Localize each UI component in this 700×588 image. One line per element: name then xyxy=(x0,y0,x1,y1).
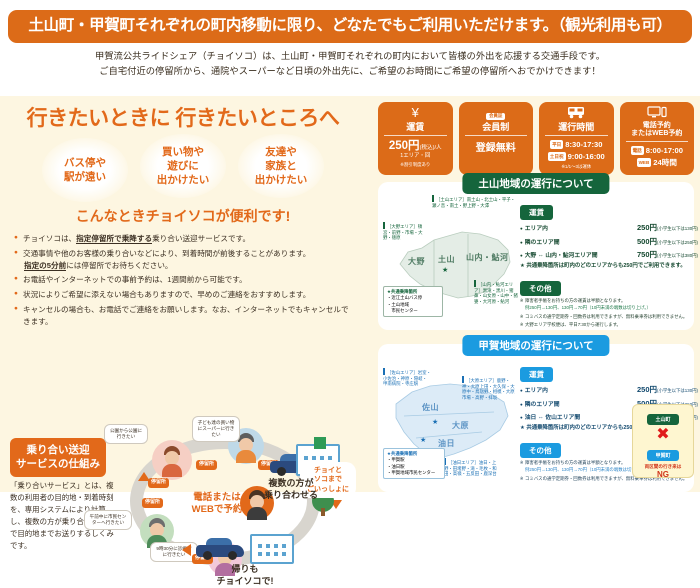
fare-label: ●大野 ⇔ 山内・鮎河エリア間 xyxy=(520,250,598,259)
legend-koka: ★共通乗降箇所 ・甲賀駅 ・油日駅 ・甲賀地域市民センター xyxy=(383,448,445,480)
map-label-top-text: ［土山エリア］南土山・北土山・平子・瀬ノ音・南土・野上野・大澤 xyxy=(432,197,515,208)
other-note-main: 障害者手帳をお持ちの方の運賃は半額となります。 xyxy=(525,460,625,465)
map-town-tsuchiyama: 土山 xyxy=(438,254,455,265)
passenger-node-1 xyxy=(152,440,192,480)
map-label-abura-hi-area: ［油日エリア］油日・上野・田堵野・滝・毛枚・和田・高嶺・五反田・鹿深台 xyxy=(444,458,502,477)
return-line-2: チョイソコで! xyxy=(210,576,280,588)
reserve-line-2: WEBで予約 xyxy=(186,504,248,516)
ng-label: NG xyxy=(633,470,693,480)
other-note-main: コミバスの通学定期券・回数券は利用できますが、無料乗車券は利用できません。 xyxy=(525,314,687,319)
flow-title-line-2: サービスの仕組み xyxy=(12,458,104,472)
reservation-phone: 電話8:00-17:00 xyxy=(623,145,692,157)
panel-tsuchiyama: 土山地域の運行について ［土山エリア］南土山・北土山・平子・瀬ノ音・南土・野上野… xyxy=(378,182,694,330)
info-card-hours: 運行時間 平日8:30-17:30 土日祝9:00-16:00 ※1/1～3は運… xyxy=(539,102,614,175)
flow-title-line-1: 乗り合い送迎 xyxy=(12,444,104,458)
ng-badge-caption: 両区間の行き来は NG xyxy=(633,464,693,480)
arrow-up-icon xyxy=(138,472,150,481)
fare-price: 250円(小学生以下は130円) xyxy=(637,384,698,395)
notes-list: チョイソコは、指定停留所で乗降する乗り合い送迎サービスです。 交通事情や他のお客… xyxy=(0,226,366,327)
fare-row: ●エリア内 250円(小学生以下は130円) xyxy=(520,384,698,395)
fare-row: ●エリア内 250円(小学生以下は130円) xyxy=(520,222,698,233)
info-card-membership-main: 登録無料 xyxy=(462,139,531,156)
map-town-sayama: 佐山 xyxy=(422,402,439,413)
map-town-yamauchi-ayukawa: 山内・鮎河 xyxy=(466,252,509,263)
medical-cross-icon xyxy=(314,437,326,449)
legend-item: ・甲賀地域市民センター xyxy=(387,470,441,476)
bubble-shopping-outing: 買い物や 遊びに 出かけたい xyxy=(140,134,226,198)
phone-web-icon xyxy=(623,106,692,121)
lead-paragraph: 甲賀流公共ライドシェア（チョイソコ）は、土山町・甲賀町それぞれの町内において皆様… xyxy=(0,43,700,87)
bullet-1-emphasis: 指定停留所で乗降する xyxy=(76,234,152,244)
ng-badge-town-top: 土山町 xyxy=(647,414,678,425)
reservation-web: WEB24時間 xyxy=(623,157,692,169)
map-label-bottom-text: ［油日エリア］油日・上野・田堵野・滝・毛枚・和田・高嶺・五反田・鹿深台 xyxy=(444,460,497,477)
panel-tsuchiyama-header: 土山地域の運行について xyxy=(462,173,609,194)
legend-item: 市民センター xyxy=(387,308,439,314)
legend-tsuchiyama: ★共通乗降箇所 ・近江土山バス停 ・土山地域 市民センター xyxy=(383,286,443,318)
bubble-friends-family: 友達や 家族と 出かけたい xyxy=(238,134,324,198)
map-label-left-text: ［大野エリア］頓宮・前野・市場・大野・徳原 xyxy=(383,224,423,241)
bubble-1-line-2: 駅が遠い xyxy=(64,170,106,184)
top-banner-container: 土山町・甲賀町それぞれの町内移動に限り、どなたでもご利用いただけます。（観光利用… xyxy=(0,0,700,43)
other-section-tag: その他 xyxy=(520,443,561,458)
membership-badge-label: 会員証 xyxy=(486,113,505,120)
map-label-tsuchiyama-area: ［土山エリア］南土山・北土山・平子・瀬ノ音・南土・野上野・大澤 xyxy=(432,195,516,209)
arrow-left-icon xyxy=(182,544,191,556)
bullet-3-text: お電話やインターネットでの事前予約は、1週間前から可能です。 xyxy=(23,275,247,284)
cross-area-restriction-badge: 土山町 ✖ 甲賀町 両区間の行き来は NG xyxy=(632,404,694,478)
info-card-membership-title: 会員制 xyxy=(465,121,528,136)
reservation-title-line-2: またはWEB予約 xyxy=(626,130,689,138)
fare-label: ●隣のエリア間 xyxy=(520,399,560,408)
fare-amount: 250円 xyxy=(389,140,420,152)
other-note: 大野エリア学校便は、平日7:30から運行します。 xyxy=(520,322,698,328)
phone-tag: 電話 xyxy=(631,146,644,154)
bullet-2-pre: 交通事情や他のお客様の乗り合いなどにより、到着時間が前後することがあります。 xyxy=(23,249,310,258)
service-info-cards: ¥ 運賃 250円(税込)/人 1エリア・回 ※割引制度あり 会員証 会員制 登… xyxy=(370,96,700,175)
bus-glyph xyxy=(567,106,585,119)
map-koka: ［佐山エリア］岩室・小佐治・神原・隠岐・甲南病院・寺庄駅 ［大原エリア］鹿野・神… xyxy=(382,358,518,488)
fare-section-tag: 運賃 xyxy=(520,367,553,382)
yen-icon: ¥ xyxy=(381,106,450,121)
fare-row: ●隣のエリア間 500円(小学生以下は250円) xyxy=(520,236,698,247)
list-item: チョイソコは、指定停留所で乗降する乗り合い送迎サービスです。 xyxy=(14,233,352,245)
bubble-3-line-1: 友達や xyxy=(255,145,308,159)
share-line-1: 複数の方が xyxy=(256,478,326,490)
map-label-yamauchi-ayukawa-area: ［山内・鮎河エリア］黒滝・黒川・猪鼻・山女原・山中・猪婆・大河原・鮎河 xyxy=(474,280,518,305)
lead-line-1: 甲賀流公共ライドシェア（チョイソコ）は、土山町・甲賀町それぞれの町内において皆様… xyxy=(10,49,690,64)
sub-headline: こんなときチョイソコが便利です! xyxy=(0,206,366,226)
content-body: 行きたいときに 行きたいところへ バス停や 駅が遠い 買い物や 遊びに 出かけた… xyxy=(0,96,700,492)
fare-label: ●油日 ⇔ 佐山エリア間 xyxy=(520,412,580,421)
map-label-top-text: ［大原エリア］鹿野・神・大原上田・大久保・大原中・鳥居野・相模・大原市場・高野・… xyxy=(462,378,515,400)
flow-diagram: 乗り合い送迎 サービスの仕組み 「乗り合いサービス」とは、複数の利用者の目的地・… xyxy=(0,414,366,588)
fare-suffix: (税込)/人 xyxy=(420,145,442,151)
callout-center: 午前中に市民センターへ行きたい xyxy=(84,510,132,530)
info-card-membership: 会員証 会員制 登録無料 xyxy=(459,102,534,175)
main-banner-headline: 土山町・甲賀町それぞれの町内移動に限り、どなたでもご利用いただけます。（観光利用… xyxy=(8,10,692,43)
other-section-tag: その他 xyxy=(520,281,561,296)
fare-price: 250円(小学生以下は130円) xyxy=(637,222,698,233)
label-return-trip: 帰りも チョイソコで! xyxy=(210,564,280,587)
bubble-1-line-1: バス停や xyxy=(64,156,106,170)
fare-row: ●大野 ⇔ 山内・鮎河エリア間 750円(小学生以下は380円) xyxy=(520,249,698,260)
fare-section-tag: 運賃 xyxy=(520,205,553,220)
fare-label: ●エリア内 xyxy=(520,223,548,232)
info-card-fare: ¥ 運賃 250円(税込)/人 1エリア・回 ※割引制度あり xyxy=(378,102,453,175)
bus-icon xyxy=(542,106,611,121)
weekend-hours: 9:00-16:00 xyxy=(568,152,605,161)
callout-shopping: 子ども達の買い物にスーパーに行きたい xyxy=(192,416,240,442)
map-star-marker: ★ xyxy=(442,266,448,274)
info-card-fare-note: ※割引制度あり xyxy=(381,162,450,168)
phone-hours: 8:00-17:00 xyxy=(646,146,683,155)
other-note-main: 障害者手帳をお持ちの方の運賃は半額となります。 xyxy=(525,298,625,303)
info-card-fare-main: 250円(税込)/人 xyxy=(381,139,450,153)
bubble-bus-stop-far: バス停や 駅が遠い xyxy=(42,138,128,202)
map-star-marker: ★ xyxy=(420,436,426,444)
map-label-ono-area: ［大野エリア］頓宮・前野・市場・大野・徳原 xyxy=(383,222,429,241)
callout-park: 公園から公園に行きたい xyxy=(104,424,148,444)
web-hours: 24時間 xyxy=(653,158,677,167)
bullet-4-text: 状況によりご希望に添えない場合もありますので、早めのご連絡をおすすめします。 xyxy=(23,290,310,299)
map-star-marker: ★ xyxy=(432,418,438,426)
bullet-5-text: キャンセルの場合も、お電話でご連絡をお願いします。なお、インターネットでもキャン… xyxy=(23,305,349,326)
stop-tag: 停留所 xyxy=(148,478,169,488)
map-town-ohara: 大原 xyxy=(452,420,469,431)
map-label-ohara-area: ［大原エリア］鹿野・神・大原上田・大久保・大原中・鳥居野・相模・大原市場・高野・… xyxy=(462,376,518,401)
map-label-right-text: ［山内・鮎河エリア］黒滝・黒川・猪鼻・山女原・山中・猪婆・大河原・鮎河 xyxy=(474,282,518,304)
reserve-line-1: 電話または xyxy=(186,492,248,504)
weekday-hours: 8:30-17:30 xyxy=(565,140,602,149)
civic-center-building-icon xyxy=(250,534,294,564)
weekday-tag: 平日 xyxy=(550,140,563,148)
bubble-3-line-3: 出かけたい xyxy=(255,173,308,187)
fare-price: 750円(小学生以下は380円) xyxy=(637,249,698,260)
map-label-left-text: ［佐山エリア］岩室・小佐治・神原・隠岐・甲南病院・寺庄駅 xyxy=(383,370,431,387)
other-note-sub: 例250円→130円、130円→70円（10円未満の端数は切り上げ。） xyxy=(525,305,698,311)
right-column: ¥ 運賃 250円(税込)/人 1エリア・回 ※割引制度あり 会員証 会員制 登… xyxy=(370,96,700,492)
bubble-3-line-2: 家族と xyxy=(255,159,308,173)
bubble-2-line-1: 買い物や xyxy=(157,145,210,159)
bullet-2-emphasis: 指定の5分前 xyxy=(24,261,66,271)
bubble-2-line-2: 遊びに xyxy=(157,159,210,173)
no-crossing-icon: ✖ xyxy=(633,427,693,443)
others-tsuchiyama: その他 障害者手帳をお持ちの方の運賃は半額となります。 例250円→130円、1… xyxy=(520,278,698,329)
flow-title: 乗り合い送迎 サービスの仕組み xyxy=(10,438,106,477)
lead-line-2: ご自宅付近の停留所から、通院やスーパーなど日頃の外出先に、ご希望のお時間にご希望… xyxy=(10,64,690,79)
map-label-sayama-area: ［佐山エリア］岩室・小佐治・神原・隠岐・甲南病院・寺庄駅 xyxy=(383,368,431,387)
other-note: 障害者手帳をお持ちの方の運賃は半額となります。 例250円→130円、130円→… xyxy=(520,298,698,311)
info-card-hours-title: 運行時間 xyxy=(545,121,608,136)
left-headline: 行きたいときに 行きたいところへ xyxy=(0,96,366,132)
info-card-hours-note: ※1/1～3は運休 xyxy=(542,164,611,170)
weekend-tag: 土日祝 xyxy=(548,152,566,160)
need-bubbles: バス停や 駅が遠い 買い物や 遊びに 出かけたい 友達や 家族と 出かけ xyxy=(0,134,366,204)
web-tag: WEB xyxy=(637,158,652,166)
map-town-ono: 大野 xyxy=(408,256,425,267)
list-item: 状況によりご希望に添えない場合もありますので、早めのご連絡をおすすめします。 xyxy=(14,289,352,301)
choi-line-1: チョイと xyxy=(302,466,354,475)
fare-label: ●エリア内 xyxy=(520,385,548,394)
other-note: コミバスの通学定期券・回数券は利用できますが、無料乗車券は利用できません。 xyxy=(520,314,698,320)
panel-koka-header: 甲賀地域の運行について xyxy=(462,335,609,356)
list-item: キャンセルの場合も、お電話でご連絡をお願いします。なお、インターネットでもキャン… xyxy=(14,304,352,328)
fare-label: ●隣のエリア間 xyxy=(520,237,560,246)
bullet-1-pre: チョイソコは、 xyxy=(23,234,76,243)
bullet-2-post: には停留所でお待ちください。 xyxy=(66,261,172,270)
fare-price: 500円(小学生以下は250円) xyxy=(637,236,698,247)
list-item: お電話やインターネットでの事前予約は、1週間前から可能です。 xyxy=(14,274,352,286)
stop-tag: 停留所 xyxy=(142,498,163,508)
ng-caption-text: 両区間の行き来は xyxy=(645,464,682,469)
fare-star-note: ★ 共通乗降箇所は町内のどのエリアからも250円でご利用できます。 xyxy=(520,263,698,271)
map-tsuchiyama: ［土山エリア］南土山・北土山・平子・瀬ノ音・南土・野上野・大澤 ［大野エリア］頓… xyxy=(382,196,518,326)
label-shared-ride: 複数の方が 乗り合わせる xyxy=(256,478,326,501)
share-line-2: 乗り合わせる xyxy=(256,490,326,502)
fares-tsuchiyama: 運賃 ●エリア内 250円(小学生以下は130円) ●隣のエリア間 500円(小… xyxy=(520,202,698,329)
ng-badge-town-bottom: 甲賀町 xyxy=(647,450,678,461)
other-note-main: 大野エリア学校便は、平日7:30から運行します。 xyxy=(525,322,621,327)
vehicle-return xyxy=(196,538,244,560)
bullet-1-post: 乗り合い送迎サービスです。 xyxy=(152,234,250,243)
info-card-reservation: 電話予約 またはWEB予約 電話8:00-17:00 WEB24時間 xyxy=(620,102,695,175)
monitor-phone-glyph xyxy=(647,106,667,119)
label-reservation-method: 電話または WEBで予約 xyxy=(186,492,248,517)
hours-weekend: 土日祝9:00-16:00 xyxy=(542,151,611,163)
stop-tag: 停留所 xyxy=(196,460,217,470)
info-card-fare-title: 運賃 xyxy=(384,121,447,136)
return-line-1: 帰りも xyxy=(210,564,280,576)
list-item: 交通事情や他のお客様の乗り合いなどにより、到着時間が前後することがあります。指定… xyxy=(14,248,352,272)
info-card-fare-sub: 1エリア・回 xyxy=(381,153,450,161)
infographic-page: 土山町・甲賀町それぞれの町内移動に限り、どなたでもご利用いただけます。（観光利用… xyxy=(0,0,700,492)
hours-weekday: 平日8:30-17:30 xyxy=(542,139,611,151)
membership-card-icon: 会員証 xyxy=(462,106,531,121)
bubble-2-line-3: 出かけたい xyxy=(157,173,210,187)
info-card-reservation-title: 電話予約 またはWEB予約 xyxy=(626,121,689,142)
